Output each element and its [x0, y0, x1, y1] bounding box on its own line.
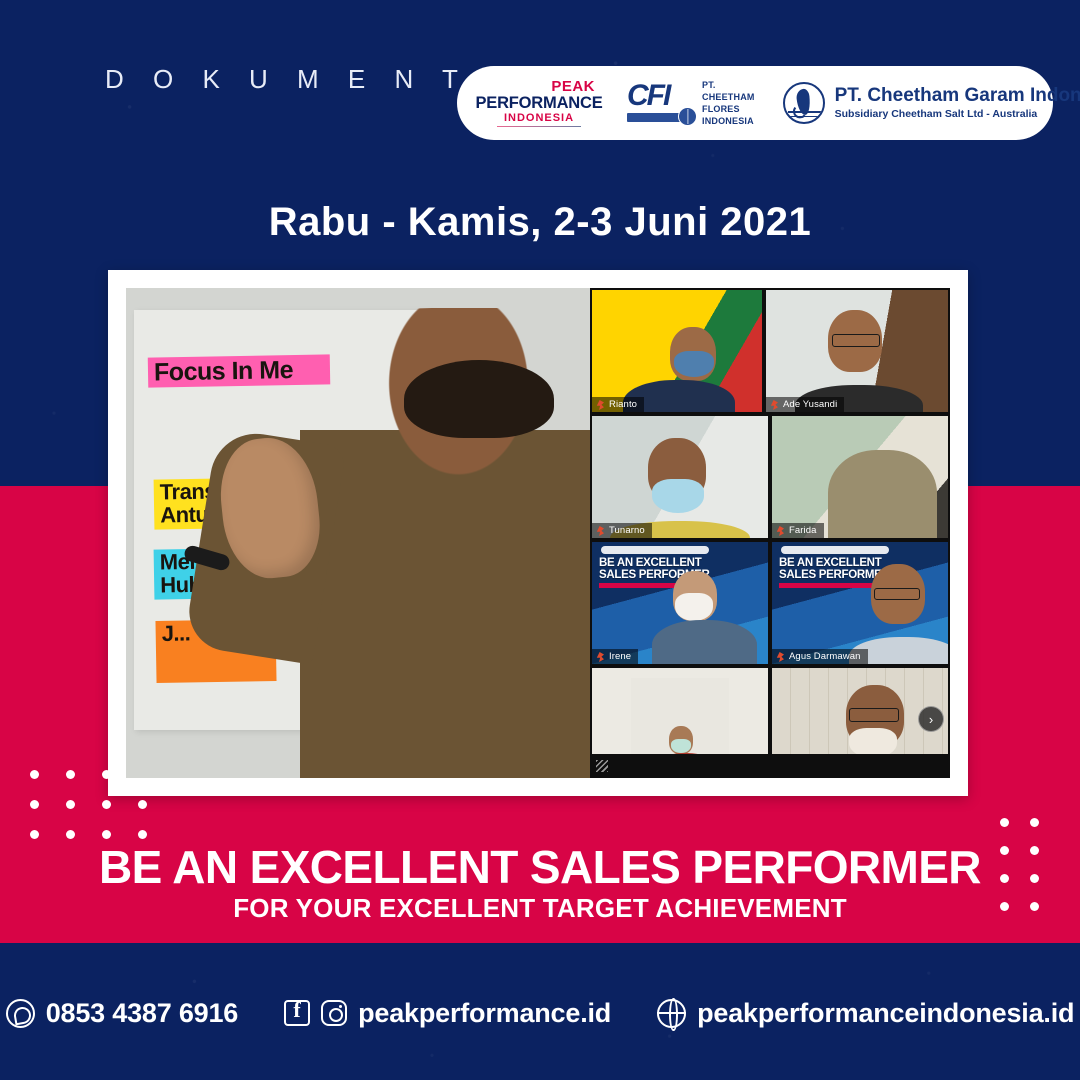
footer-website[interactable]: peakperformanceindonesia.id — [657, 998, 1074, 1029]
footer-social[interactable]: peakperformance.id — [284, 998, 611, 1029]
participant-tile[interactable]: BE AN EXCELLENT SALES PERFORMER Agus Dar… — [772, 542, 948, 664]
cfi-wordmark: PT. CHEETHAM FLORES INDONESIA — [702, 79, 755, 128]
participant-gallery: Rianto Ade Yusandi — [590, 288, 950, 778]
cfi-letters: CFI — [627, 81, 693, 111]
slide-line1: BE AN EXCELLENT — [599, 558, 711, 570]
next-page-arrow-icon[interactable]: › — [918, 706, 944, 732]
participant-name: Ade Yusandi — [766, 397, 844, 412]
footer-phone[interactable]: 0853 4387 6916 — [6, 998, 238, 1029]
poster-canvas: D O K U M E N T A S I PEAK PERFORMANCE I… — [0, 0, 1080, 1080]
peak-logo-line1: PEAK — [551, 79, 595, 94]
cfi-text-line1: PT. — [702, 79, 755, 91]
cheetham-title: PT. Cheetham Garam Indonesia — [835, 86, 1080, 106]
cheetham-subtitle: Subsidiary Cheetham Salt Ltd - Australia — [835, 108, 1080, 120]
whatsapp-icon — [6, 999, 35, 1028]
logo-cfi: CFI PT. CHEETHAM FLORES INDONESIA — [627, 79, 755, 128]
instagram-icon — [321, 1000, 347, 1026]
peak-logo-line2: PERFORMANCE — [475, 95, 602, 112]
screenshot-image: Focus In Me Transfer Antusiasme Meningka… — [126, 288, 950, 778]
logo-peak-performance: PEAK PERFORMANCE INDONESIA — [479, 79, 599, 127]
speaker-video-pane: Focus In Me Transfer Antusiasme Meningka… — [126, 288, 590, 778]
participant-name: Agus Darmawan — [772, 649, 868, 664]
footer-contact-bar: 0853 4387 6916 peakperformance.id peakpe… — [0, 985, 1080, 1041]
peak-logo-line3: INDONESIA — [504, 113, 574, 124]
cfi-text-line3: FLORES — [702, 103, 755, 115]
globe-icon — [657, 999, 686, 1028]
participant-tile[interactable]: BE AN EXCELLENT SALES PERFORMER Irene — [592, 542, 768, 664]
phone-number: 0853 4387 6916 — [46, 998, 238, 1029]
participant-name: Farida — [772, 523, 824, 538]
cfi-text-line2: CHEETHAM — [702, 91, 755, 103]
participant-tile[interactable]: Tunarno — [592, 416, 768, 538]
cfi-mark-icon: CFI — [627, 81, 693, 125]
seahorse-icon — [783, 82, 825, 124]
logo-cheetham-garam: PT. Cheetham Garam Indonesia Subsidiary … — [783, 82, 1080, 124]
participant-tile[interactable]: Farida — [772, 416, 948, 538]
social-handle: peakperformance.id — [358, 998, 611, 1029]
event-date: Rabu - Kamis, 2-3 Juni 2021 — [0, 200, 1080, 245]
photo-frame: Focus In Me Transfer Antusiasme Meningka… — [108, 270, 968, 796]
cfi-text-line4: INDONESIA — [702, 115, 755, 127]
facebook-icon — [284, 1000, 310, 1026]
resize-grip-icon[interactable] — [596, 760, 608, 772]
website-url: peakperformanceindonesia.id — [697, 998, 1074, 1029]
globe-icon — [678, 107, 697, 126]
participant-name: Irene — [592, 649, 638, 664]
headline: BE AN EXCELLENT SALES PERFORMER — [0, 840, 1080, 894]
participant-tile[interactable]: Rianto — [592, 290, 762, 412]
logo-bar: PEAK PERFORMANCE INDONESIA CFI PT. CHEET… — [457, 66, 1053, 140]
participant-name: Rianto — [592, 397, 644, 412]
participant-tile[interactable]: Ade Yusandi — [766, 290, 948, 412]
subheadline: FOR YOUR EXCELLENT TARGET ACHIEVEMENT — [0, 893, 1080, 924]
speaker-hair — [404, 360, 554, 438]
speaker-figure — [300, 308, 590, 778]
peak-logo-rule — [497, 126, 581, 128]
participant-name: Tunarno — [592, 523, 652, 538]
slide-line1: BE AN EXCELLENT — [779, 558, 891, 570]
